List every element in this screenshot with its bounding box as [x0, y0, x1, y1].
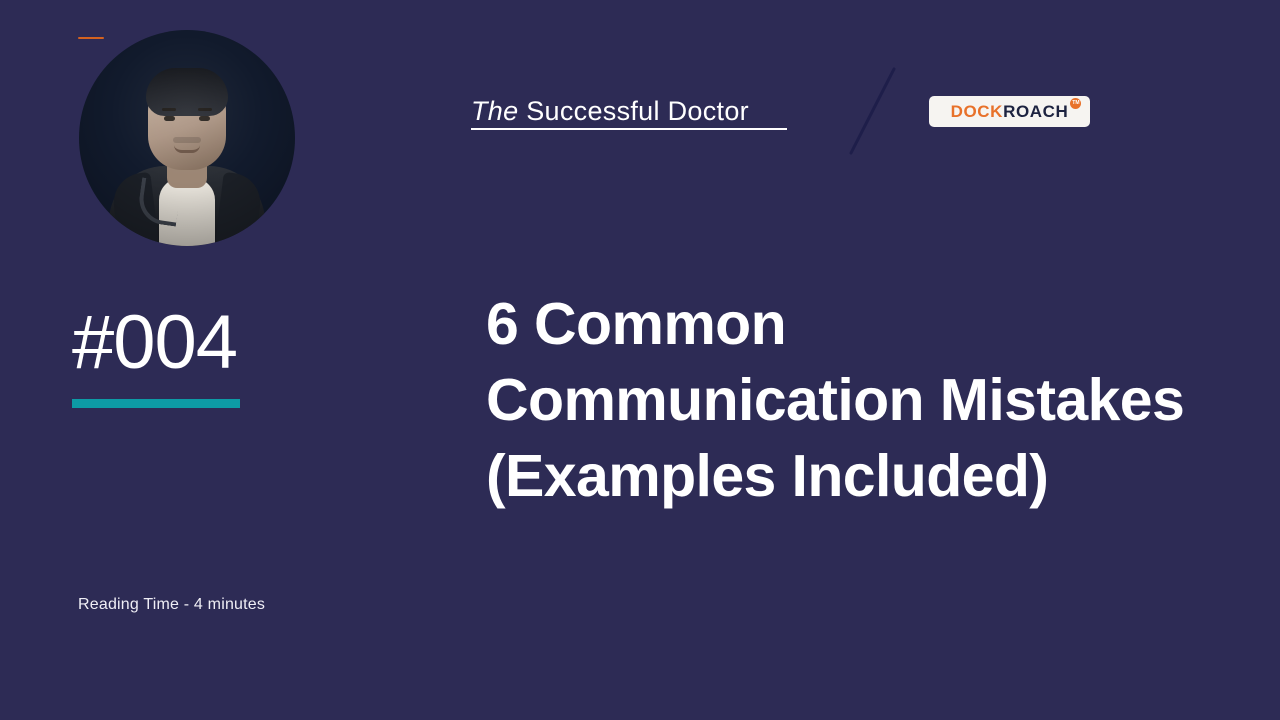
logo-wordmark: DOCKROACH TM [951, 103, 1069, 120]
logo-dock-text: DOCK [951, 102, 1003, 121]
portrait-brow-right [198, 108, 212, 111]
portrait-mouth [174, 145, 200, 153]
logo-roach-text: ROACH [1003, 102, 1068, 121]
avatar [79, 30, 295, 246]
show-title: The Successful Doctor [471, 96, 749, 127]
portrait-eye-left [164, 116, 175, 121]
portrait-hair [146, 68, 228, 116]
portrait-lapel-right [214, 172, 263, 246]
episode-number: #004 [72, 305, 237, 381]
portrait-eye-right [199, 116, 210, 121]
portrait-moustache [173, 137, 201, 143]
trademark-icon: TM [1070, 98, 1081, 109]
dockroach-logo[interactable]: DOCKROACH TM [929, 96, 1090, 127]
portrait-brow-left [162, 108, 176, 111]
show-title-rest: Successful Doctor [518, 96, 748, 126]
episode-accent-bar [72, 399, 240, 408]
avatar-photo [79, 30, 295, 246]
page-title-line-3: (Examples Included) [486, 438, 1206, 514]
slide-canvas: The Successful Doctor DOCKROACH TM #004 … [0, 0, 1280, 720]
page-title-line-2: Communication Mistakes [486, 362, 1206, 438]
page-title: 6 Common Communication Mistakes (Example… [486, 286, 1206, 514]
reading-time-label: Reading Time - 4 minutes [78, 596, 265, 614]
diagonal-divider-icon [848, 66, 898, 156]
show-title-the: The [471, 96, 518, 126]
show-title-underline [471, 128, 787, 130]
page-title-line-1: 6 Common [486, 286, 1206, 362]
